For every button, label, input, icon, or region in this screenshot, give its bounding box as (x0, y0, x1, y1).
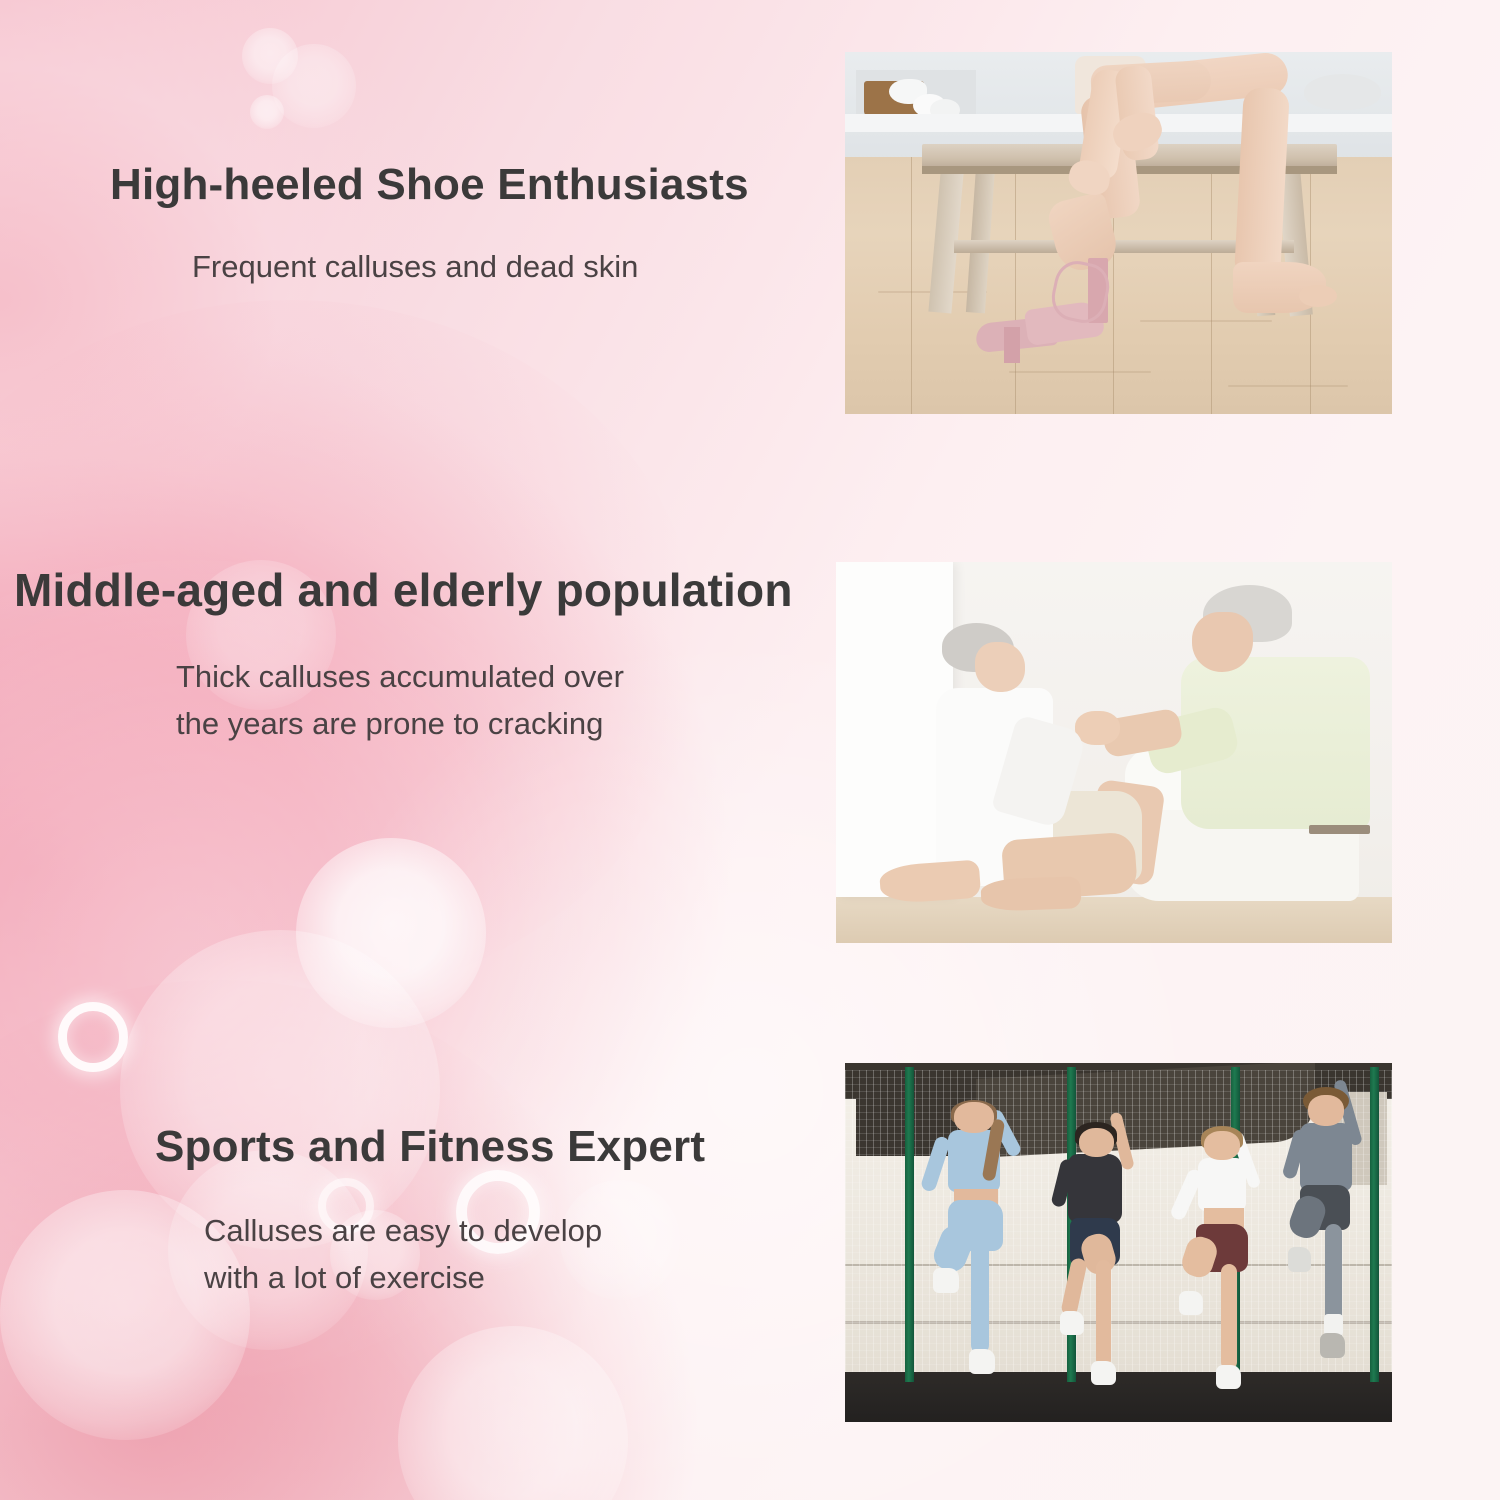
section-3-title: Sports and Fitness Expert (0, 1122, 820, 1171)
section-1-title: High-heeled Shoe Enthusiasts (0, 160, 820, 209)
athletes-doing-high-knee-jumps-photo (845, 1063, 1392, 1422)
section-2-body-line-2: the years are prone to cracking (176, 706, 603, 741)
section-3-body-line-2: with a lot of exercise (204, 1260, 485, 1295)
section-2-body-line-1: Thick calluses accumulated over (176, 659, 624, 694)
section-1-body-line-1: Frequent calluses and dead skin (0, 243, 820, 290)
athlete-figure (1277, 1095, 1381, 1375)
section-3-body: Calluses are easy to develop with a lot … (0, 1207, 820, 1301)
athlete-figure (1047, 1128, 1151, 1394)
section-2-title: Middle-aged and elderly population (0, 565, 820, 617)
section-middle-aged-and-elderly-population: Middle-aged and elderly population Thick… (0, 565, 820, 747)
section-sports-and-fitness-expert: Sports and Fitness Expert Calluses are e… (0, 1122, 820, 1301)
woman-on-bench-rubbing-foot-photo (845, 52, 1392, 414)
marketing-infographic-poster: High-heeled Shoe Enthusiasts Frequent ca… (0, 0, 1500, 1500)
athlete-figure (922, 1102, 1031, 1382)
section-high-heeled-shoe-enthusiasts: High-heeled Shoe Enthusiasts Frequent ca… (0, 160, 820, 290)
section-3-body-line-1: Calluses are easy to develop (204, 1213, 602, 1248)
section-2-body: Thick calluses accumulated over the year… (0, 653, 820, 747)
athlete-figure (1173, 1131, 1277, 1397)
elderly-couple-sitting-on-floor-photo (836, 562, 1392, 943)
